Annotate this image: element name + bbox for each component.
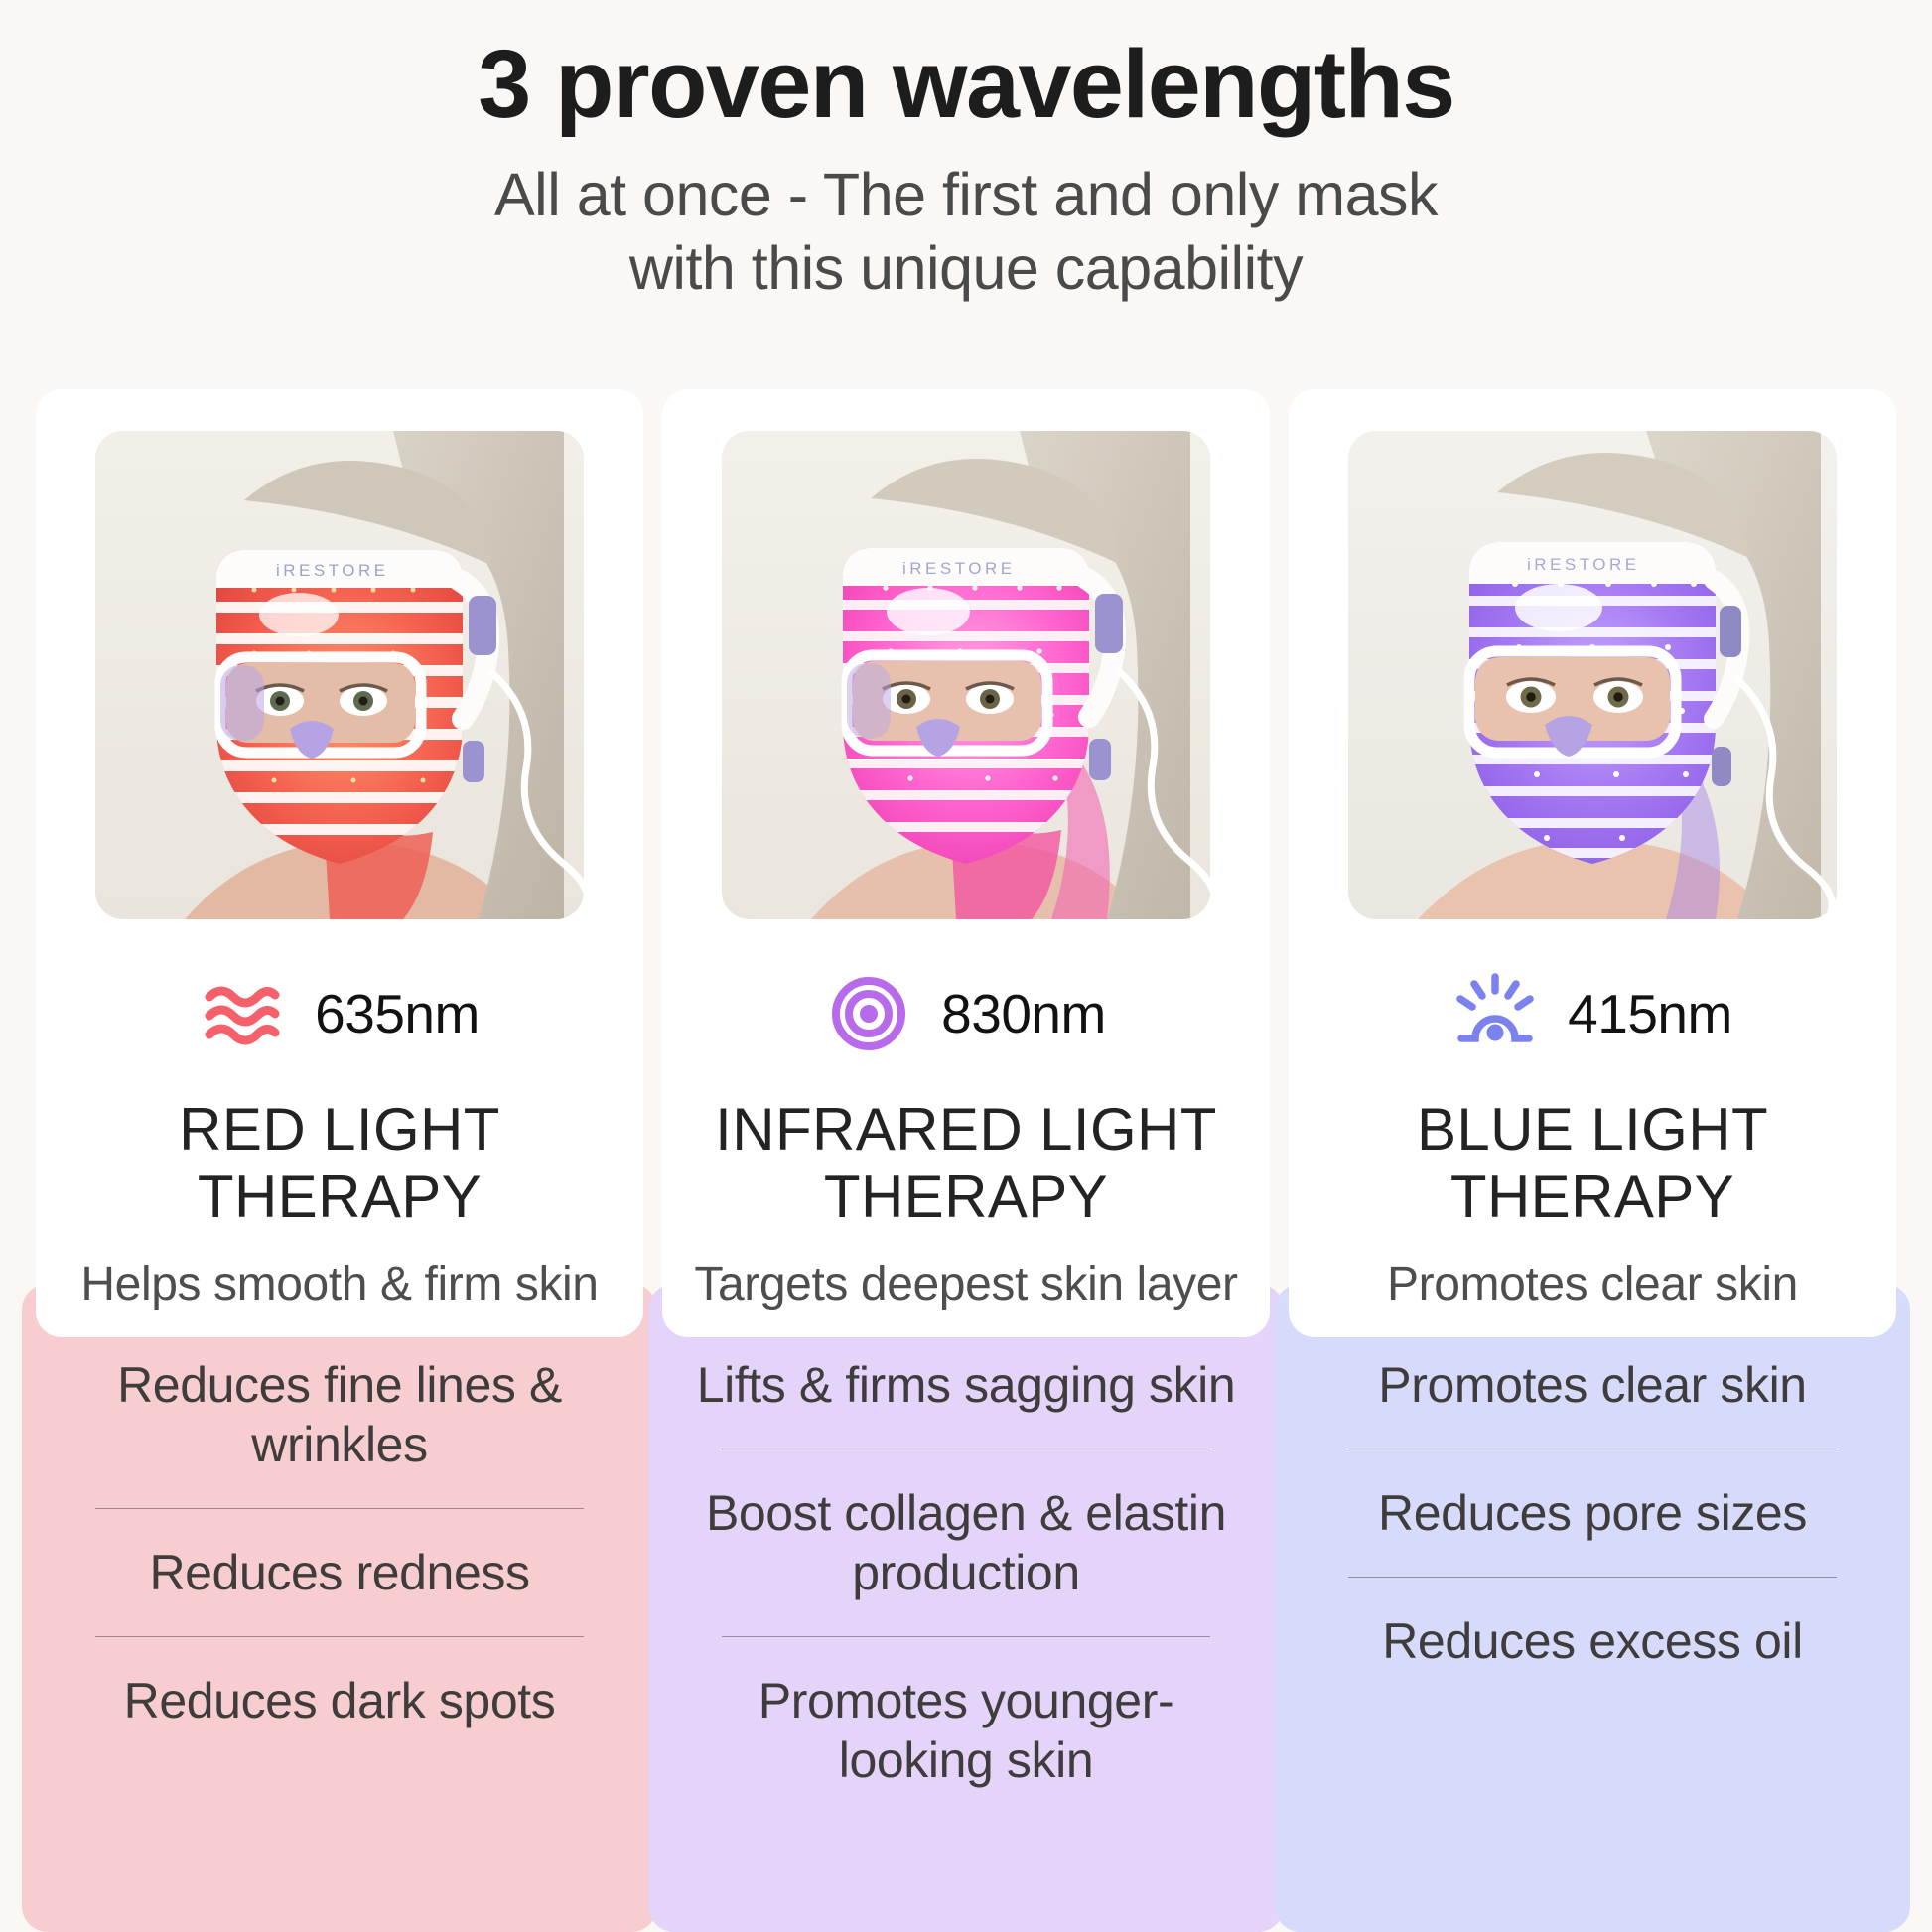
- benefit-divider: [95, 1636, 584, 1637]
- benefits-panel-red: Reduces fine lines & wrinkles Reduces re…: [22, 1284, 657, 1932]
- benefit-item: Promotes clear skin: [1314, 1337, 1870, 1433]
- svg-text:iRESTORE: iRESTORE: [902, 559, 1016, 578]
- product-photo-blue: iRESTORE: [1348, 431, 1837, 919]
- benefit-item: Reduces dark spots: [62, 1653, 618, 1748]
- therapy-title-blue: BLUE LIGHT THERAPY: [1318, 1096, 1866, 1231]
- wavelength-value-infrared: 830nm: [941, 982, 1106, 1045]
- svg-text:iRESTORE: iRESTORE: [1527, 555, 1640, 574]
- therapy-card-red: iRESTORE: [36, 389, 643, 1337]
- concentric-circles-icon: [826, 971, 911, 1056]
- therapy-column-red: iRESTORE: [36, 389, 643, 1337]
- benefit-item: Reduces fine lines & wrinkles: [62, 1337, 618, 1492]
- therapy-card-infrared: iRESTORE 830nm: [662, 389, 1270, 1337]
- benefit-item: Promotes younger-looking skin: [688, 1653, 1244, 1808]
- benefit-item: Reduces pore sizes: [1314, 1465, 1870, 1561]
- wavelength-row-red: 635nm: [200, 971, 480, 1056]
- therapy-subtitle-blue: Promotes clear skin: [1387, 1257, 1798, 1311]
- svg-text:iRESTORE: iRESTORE: [276, 561, 389, 580]
- benefit-divider: [95, 1508, 584, 1509]
- product-photo-infrared: iRESTORE: [722, 431, 1210, 919]
- product-photo-red: iRESTORE: [95, 431, 584, 919]
- benefit-item: Lifts & firms sagging skin: [688, 1337, 1244, 1433]
- page-title: 3 proven wavelengths: [0, 34, 1932, 136]
- benefits-panel-infrared: Lifts & firms sagging skin Boost collage…: [648, 1284, 1284, 1932]
- therapy-title-red: RED LIGHT THERAPY: [66, 1096, 614, 1231]
- wavelength-row-blue: 415nm: [1452, 971, 1732, 1056]
- therapy-column-blue: iRESTORE: [1289, 389, 1896, 1337]
- benefits-panel-blue: Promotes clear skin Reduces pore sizes R…: [1275, 1284, 1910, 1932]
- therapy-title-infrared: INFRARED LIGHT THERAPY: [692, 1096, 1240, 1231]
- benefit-divider: [722, 1636, 1210, 1637]
- wavelength-value-blue: 415nm: [1568, 982, 1732, 1045]
- benefit-item: Boost collagen & elastin production: [688, 1465, 1244, 1620]
- therapy-card-blue: iRESTORE: [1289, 389, 1896, 1337]
- wavelength-row-infrared: 830nm: [826, 971, 1106, 1056]
- wavelength-value-red: 635nm: [315, 982, 480, 1045]
- benefit-item: Reduces redness: [62, 1525, 618, 1620]
- benefit-divider: [1348, 1577, 1837, 1578]
- wavy-lines-icon: [200, 971, 285, 1056]
- benefit-divider: [1348, 1449, 1837, 1449]
- benefit-item: Reduces excess oil: [1314, 1593, 1870, 1689]
- page-subtitle-line-2: with this unique capability: [0, 231, 1932, 305]
- therapy-subtitle-red: Helps smooth & firm skin: [80, 1257, 598, 1311]
- therapy-subtitle-infrared: Targets deepest skin layer: [694, 1257, 1237, 1311]
- page-subtitle-line-1: All at once - The first and only mask: [0, 158, 1932, 231]
- benefit-divider: [722, 1449, 1210, 1449]
- therapy-column-infrared: iRESTORE 830nm: [662, 389, 1270, 1337]
- sunburst-icon: [1452, 971, 1538, 1056]
- therapy-columns: iRESTORE: [0, 389, 1932, 1337]
- page-subtitle: All at once - The first and only mask wi…: [0, 158, 1932, 306]
- infographic-page: 3 proven wavelengths All at once - The f…: [0, 0, 1932, 1932]
- header: 3 proven wavelengths All at once - The f…: [0, 0, 1932, 306]
